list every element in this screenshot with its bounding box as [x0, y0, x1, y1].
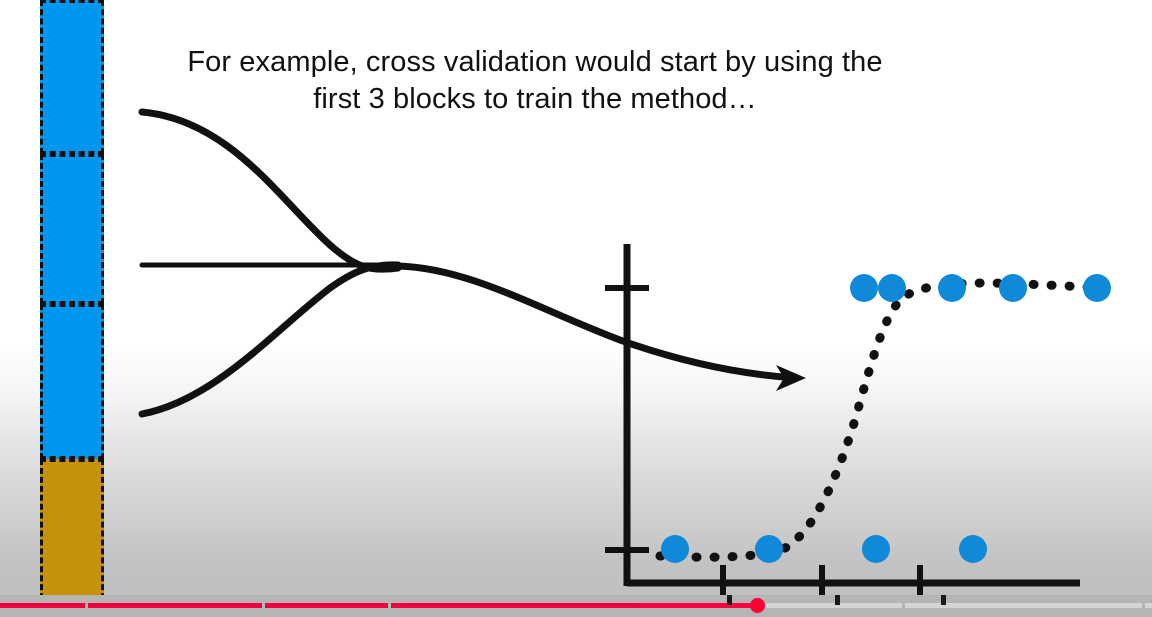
progress-scrubber[interactable] [750, 598, 765, 613]
progress-played [0, 603, 640, 608]
video-player-bar[interactable] [0, 595, 1152, 617]
data-block-train [40, 304, 104, 459]
point-neg-3 [862, 535, 890, 563]
chapter-gap-4 [1142, 603, 1145, 608]
point-pos-4 [999, 274, 1027, 302]
data-block-column [40, 0, 104, 611]
point-neg-4 [959, 535, 987, 563]
point-neg-2 [755, 535, 783, 563]
point-pos-3 [938, 274, 966, 302]
progress-played-hot [640, 603, 757, 608]
data-block-train [40, 154, 104, 304]
chapter-marker-1[interactable] [835, 595, 840, 605]
chapter-gap-0 [85, 603, 88, 608]
chapter-gap-1 [262, 603, 265, 608]
point-pos-5 [1083, 274, 1111, 302]
data-block-test [40, 459, 104, 617]
page-title: For example, cross validation would star… [140, 44, 930, 118]
chapter-gap-2 [388, 603, 391, 608]
data-block-train [40, 0, 104, 154]
point-neg-1 [661, 535, 689, 563]
point-pos-2 [878, 274, 906, 302]
chapter-marker-0[interactable] [727, 595, 732, 605]
chapter-gap-3 [902, 603, 905, 608]
chapter-marker-2[interactable] [941, 595, 946, 605]
slide-stage: For example, cross validation would star… [0, 0, 1152, 617]
point-pos-1 [850, 274, 878, 302]
